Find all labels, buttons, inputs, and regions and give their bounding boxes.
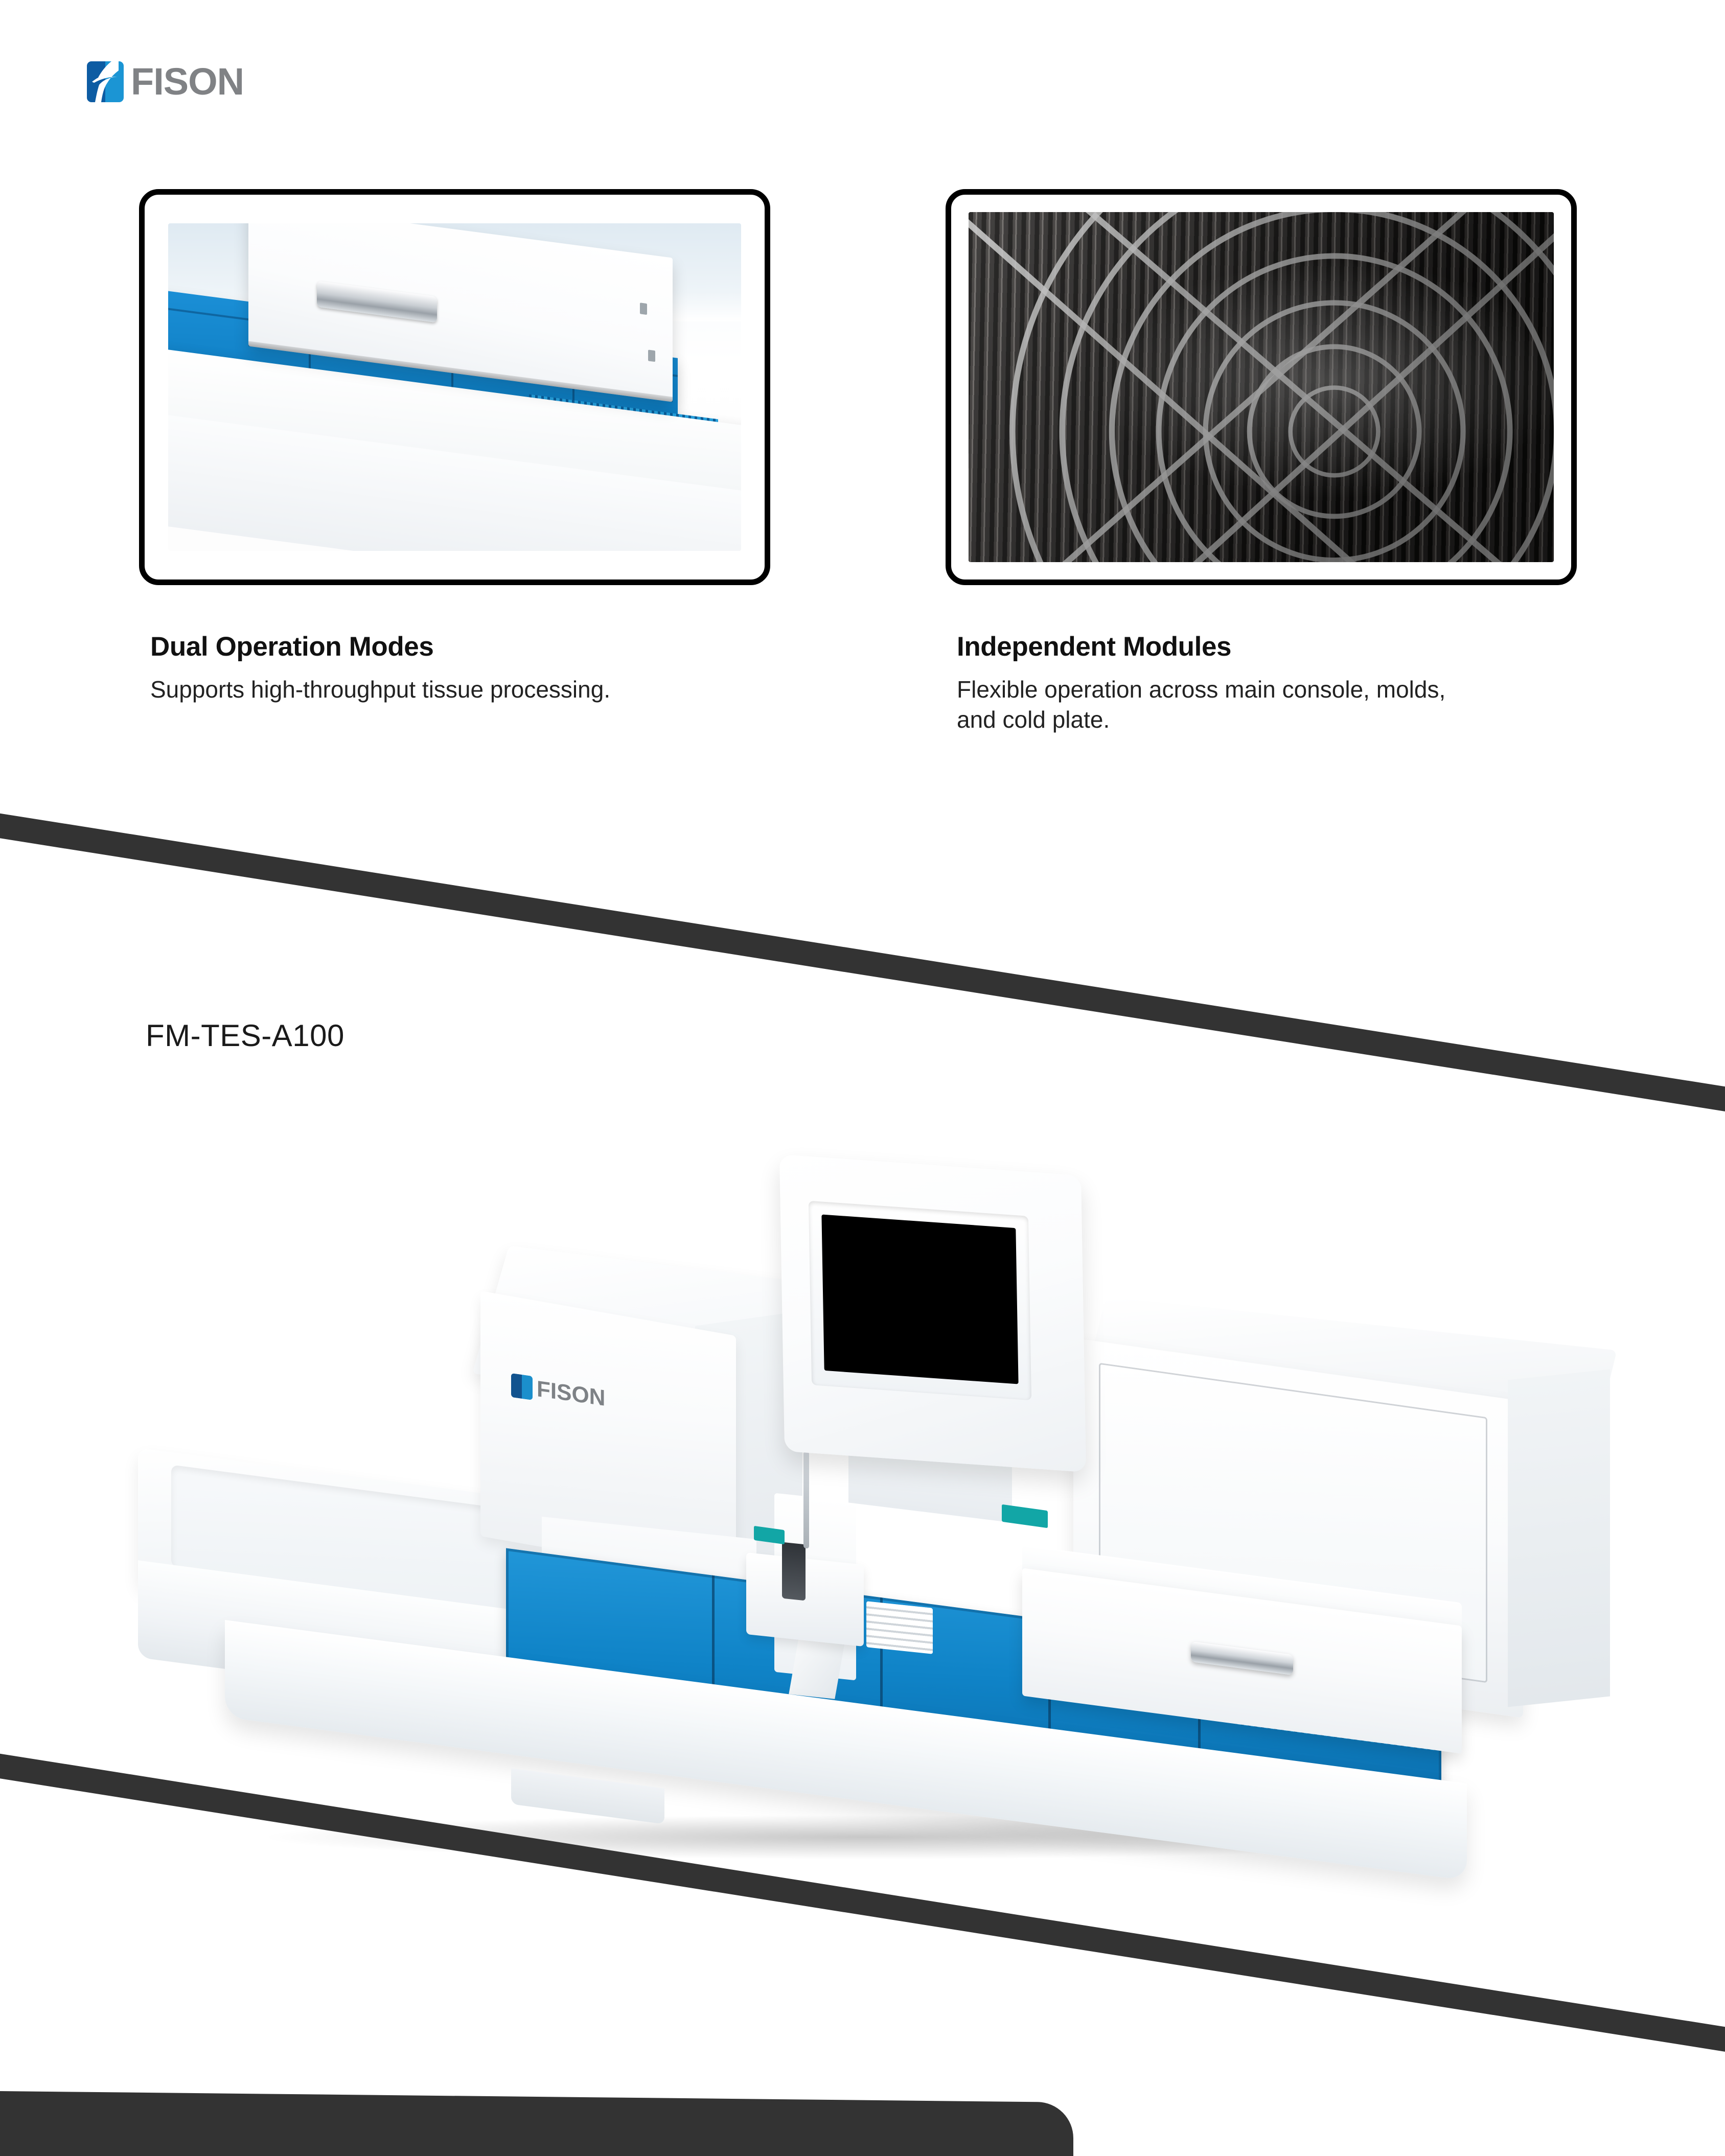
fison-mark-icon xyxy=(511,1373,533,1400)
product-model-label: FM-TES-A100 xyxy=(146,1018,344,1053)
feature-description: Flexible operation across main console, … xyxy=(957,675,1463,735)
touchscreen-display[interactable] xyxy=(821,1214,1018,1384)
feature-title: Independent Modules xyxy=(957,631,1577,662)
feature-image-independent-modules xyxy=(969,212,1554,562)
feature-description: Supports high-throughput tissue processi… xyxy=(150,675,656,705)
feature-image-frame xyxy=(139,189,770,585)
feature-card-dual-operation-modes: Dual Operation Modes Supports high-throu… xyxy=(139,189,770,705)
brand-logo: FISON xyxy=(87,61,244,102)
feature-image-frame xyxy=(946,189,1577,585)
product-image-fm-tes-a100: FISON xyxy=(153,1099,1584,1875)
fison-mark-icon xyxy=(87,61,124,102)
brochure-page: FISON xyxy=(0,0,1725,2156)
brand-name: FISON xyxy=(131,63,244,101)
feature-card-independent-modules: Independent Modules Flexible operation a… xyxy=(946,189,1577,735)
diagonal-band-top xyxy=(0,797,1725,1124)
footer-bar xyxy=(0,2091,1073,2156)
feature-image-dual-operation-modes xyxy=(168,223,741,551)
feature-title: Dual Operation Modes xyxy=(150,631,770,662)
